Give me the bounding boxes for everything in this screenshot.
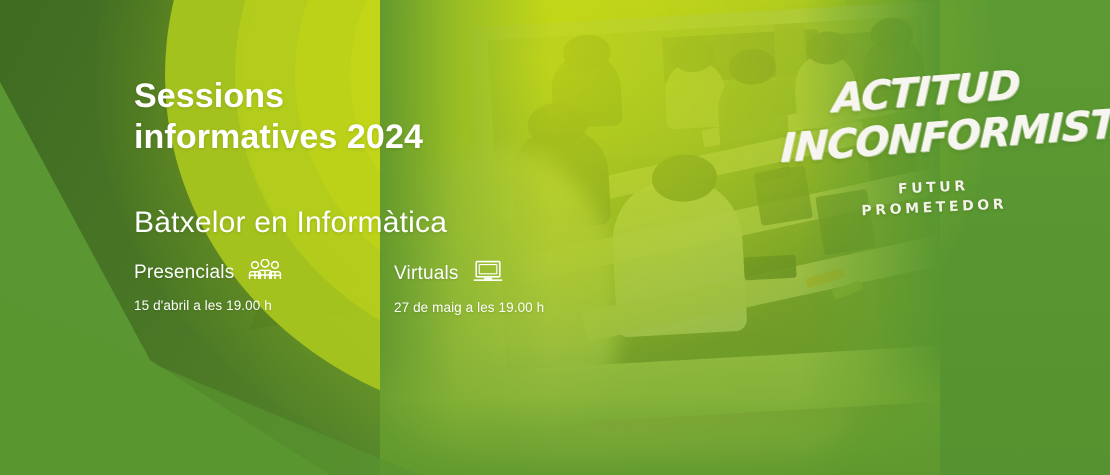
- promo-banner: Sessions informatives 2024 Bàtxelor en I…: [0, 0, 1110, 475]
- headline-line-2: informatives 2024: [134, 118, 423, 156]
- people-group-icon: [248, 259, 282, 286]
- session-virtuals: Virtuals 27 de maig a les 19.00 h: [394, 259, 544, 315]
- laptop-icon: [473, 259, 503, 288]
- sessions-block: Presencials 15 d'abril a les 1: [134, 259, 574, 315]
- page-title: Sessions informatives 2024: [134, 76, 604, 158]
- session-label: Virtuals: [394, 263, 459, 285]
- programme-subtitle: Bàtxelor en Informàtica: [134, 205, 604, 241]
- slogan-block: ACTITUD INCONFORMISTA FUTUR PROMETEDOR: [790, 62, 1070, 227]
- headline-line-1: Sessions: [134, 77, 284, 115]
- session-date: 15 d'abril a les 19.00 h: [134, 298, 394, 313]
- session-date: 27 de maig a les 19.00 h: [394, 300, 544, 315]
- headline-block: Sessions informatives 2024 Bàtxelor en I…: [134, 76, 604, 241]
- photo-fade-bottom: [380, 345, 940, 475]
- session-presencials: Presencials 15 d'abril a les 1: [134, 259, 394, 315]
- session-label: Presencials: [134, 262, 234, 284]
